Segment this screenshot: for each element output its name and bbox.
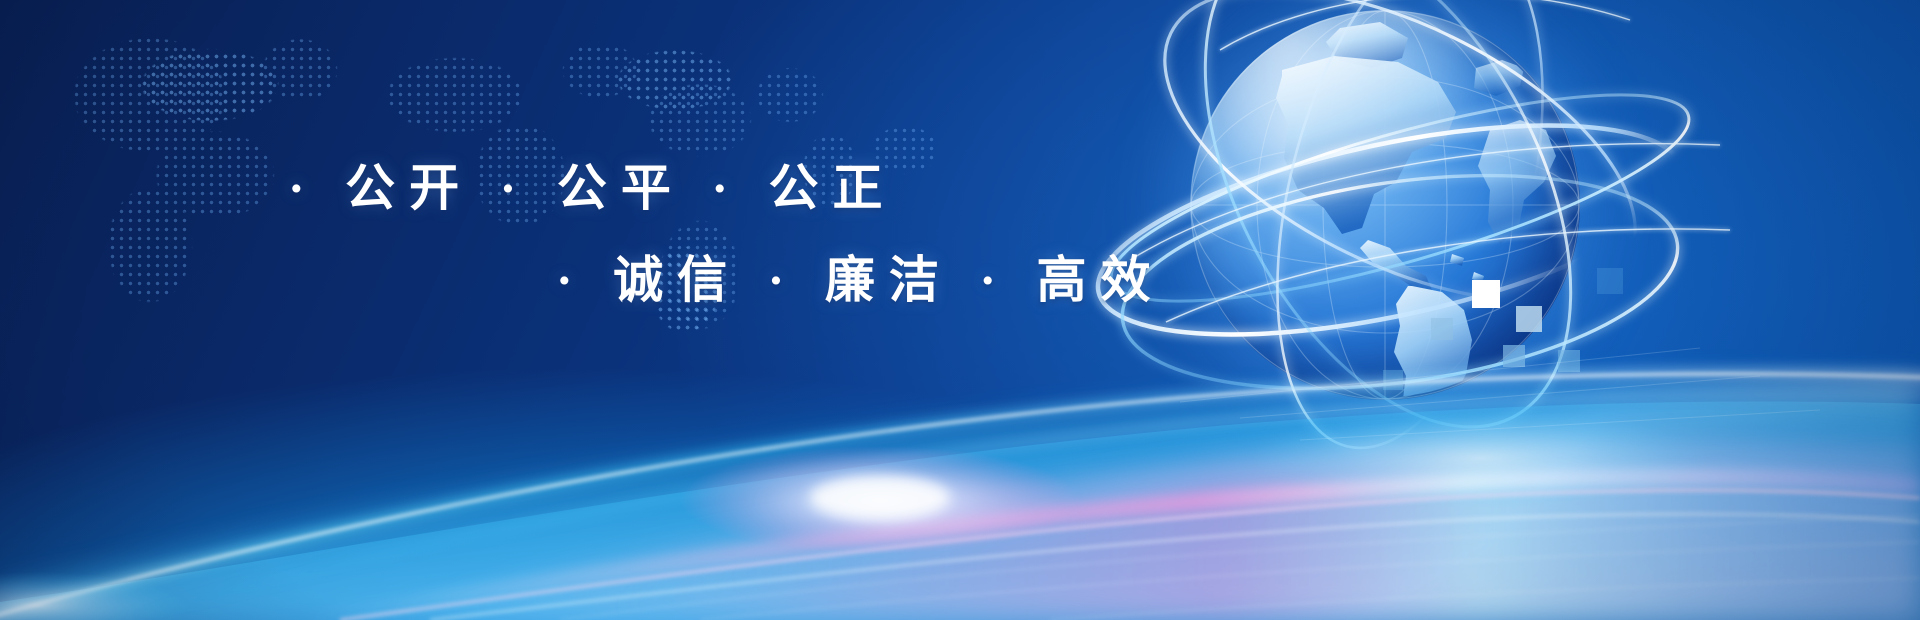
slogan-line-2-text: · 诚信 · 廉洁 · 高效 — [556, 252, 1165, 308]
map-dot-blob — [580, 30, 770, 130]
slogan-line-2: · 诚信 · 廉洁 · 高效 — [556, 240, 1165, 312]
aurora-light-wave — [0, 290, 1920, 620]
banner-canvas: · 公开 · 公平 · 公正 · 诚信 · 廉洁 · 高效 — [0, 0, 1920, 620]
slogan-line-1: · 公开 · 公平 · 公正 — [288, 148, 897, 220]
slogan-line-1-text: · 公开 · 公平 · 公正 — [288, 160, 897, 216]
map-dot-blob — [95, 25, 325, 145]
